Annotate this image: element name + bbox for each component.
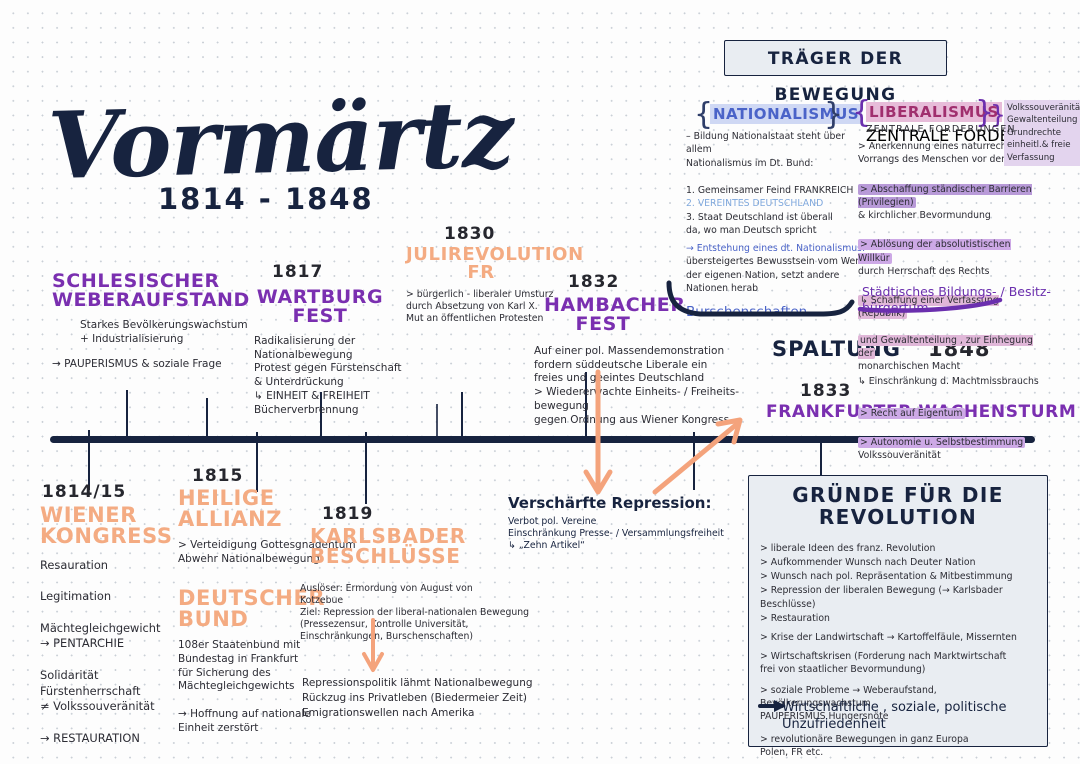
gruende-title: GRÜNDE FÜR DIE REVOLUTION	[748, 484, 1048, 529]
timeline-tick	[206, 398, 208, 442]
event-schlesischer-weberaufstand: SCHLESISCHER WEBERAUFSTAND Starkes Bevöl…	[52, 272, 252, 372]
gruende-item: > revolutionäre Bewegungen in ganz Europ…	[760, 733, 1045, 760]
timeline-tick	[256, 432, 258, 492]
liberalismus-line-text: > Ablösung der absolutistischen Willkür	[858, 239, 1011, 263]
liberalismus-line: monarchischen Macht	[858, 360, 1043, 373]
nationalismus-line: → Entstehung eines dt. Nationalismus:	[686, 242, 866, 255]
event-year: 1815	[192, 466, 243, 486]
nationalismus-line: Nationalismus im Dt. Bund:	[686, 157, 866, 170]
event-body: Starkes Bevölkerungswachstum + Industria…	[80, 319, 252, 347]
event-year: 1833	[800, 381, 851, 401]
liberalismus-line: > Autonomie u. Selbstbestimmung	[858, 423, 1043, 449]
event-heading: WARTBURG FEST	[254, 288, 386, 327]
event-year-1817: 1817	[272, 262, 323, 282]
nationalismus-line-text: 1. Gemeinsamer Feind FRANKREICH	[686, 185, 853, 196]
liberalismus-line: & kirchlicher Bevormundung	[858, 209, 1043, 222]
event-year-1832: 1832	[568, 272, 619, 292]
nationalismus-line: der eigenen Nation, setzt andere	[686, 269, 866, 282]
timeline-tick	[88, 430, 90, 490]
karlsbader-consequences: Repressionspolitik lähmt Nationalbewegun…	[302, 676, 572, 722]
liberalismus-line: > Recht auf Eigentum	[858, 393, 1043, 419]
repression-title: Verschärfte Repression:	[508, 494, 738, 512]
liberalismus-line-text: > Autonomie u. Selbstbestimmung	[858, 437, 1025, 448]
event-heading: SCHLESISCHER WEBERAUFSTAND	[52, 272, 252, 311]
liberalismus-line: > Ablösung der absolutistischen Willkür	[858, 225, 1043, 265]
event-year: 1832	[568, 272, 619, 292]
event-year-1833: 1833	[800, 381, 851, 401]
liberalismus-line: > Abschaffung ständischer Barrieren (Pri…	[858, 169, 1043, 209]
event-body: > bürgerlich - liberaler Umsturz durch A…	[406, 289, 566, 325]
liberalismus-line: ↳ Einschränkung d. Machtmissbrauchs	[858, 375, 1043, 388]
gruende-item: > Wunsch nach pol. Repräsentation & Mitb…	[760, 570, 1045, 584]
event-year: 1817	[272, 262, 323, 282]
event-year-1814-15: 1814/15	[42, 482, 126, 502]
gruende-item: > Wirtschaftskrisen (Forderung nach Mark…	[760, 650, 1045, 677]
verschaerfte-repression: Verschärfte Repression: Verbot pol. Vere…	[508, 494, 738, 552]
event-heading: HAMBACHER FEST	[544, 296, 662, 335]
timeline-tick	[693, 432, 695, 490]
nationalismus-line: Nationen herab	[686, 282, 866, 295]
event-body-secondary: → PAUPERISMUS & soziale Frage	[52, 358, 252, 372]
nationalismus-body: – Bildung Nationalstaat steht über allem…	[686, 130, 866, 320]
liberalismus-line: durch Herrschaft des Rechts	[858, 265, 1043, 278]
event-year: 1819	[322, 504, 373, 524]
event-body: Radikalisierung der Nationalbewegung Pro…	[254, 335, 454, 418]
timeline-tick	[126, 390, 128, 438]
timeline-tick	[461, 392, 463, 438]
gruende-item: > Restauration	[760, 612, 1045, 626]
event-year-1819: 1819	[322, 504, 373, 524]
gruende-item: > Aufkommender Wunsch nach Deuter Nation	[760, 556, 1045, 570]
event-year: 1814/15	[42, 482, 126, 502]
event-heading: JULIREVOLUTION FR	[406, 246, 556, 283]
nationalismus-line: 3. Staat Deutschland ist überall	[686, 211, 866, 224]
event-heading: KARLSBADER BESCHLÜSSE	[310, 526, 438, 567]
event-body: Auslöser: Ermordung von August von Kotze…	[300, 583, 560, 643]
gruende-item: > Repression der liberalen Bewegung (→ K…	[760, 584, 1045, 612]
liberalismus-line: Volkssouveränität	[858, 449, 1043, 462]
nationalismus-line: – Bildung Nationalstaat steht über allem	[686, 130, 866, 157]
event-body: Auf einer pol. Massendemonstration forde…	[534, 345, 764, 428]
traeger-box: TRÄGER DER BEWEGUNG	[724, 40, 947, 76]
liberalismus-line: und Gewaltenteilung , zur Einhegung der	[858, 320, 1043, 360]
gruende-item: > Krise der Landwirtschaft → Kartoffelfä…	[760, 631, 1045, 645]
gruende-item: > liberale Ideen des franz. Revolution	[760, 542, 1045, 556]
liberalismus-line-text: > Abschaffung ständischer Barrieren (Pri…	[858, 184, 1032, 208]
nationalismus-line: übersteigertes Bewusstsein vom Wert	[686, 255, 866, 268]
nationalismus-footer: Burschenschaften	[686, 304, 866, 320]
nationalismus-line: da, wo man Deutsch spricht	[686, 224, 866, 237]
nationalismus-line: 1. Gemeinsamer Feind FRANKREICH	[686, 170, 866, 197]
liberalismus-line-text: und Gewaltenteilung , zur Einhegung der	[858, 335, 1033, 359]
event-year-1815: 1815	[192, 466, 243, 486]
liberalismus-footer: Städtisches Bildungs- / Besitz- bürgertu…	[862, 284, 1062, 315]
liberalismus-line-text: > Recht auf Eigentum	[858, 408, 965, 419]
page-title-years: 1814 - 1848	[158, 182, 374, 216]
liberalismus-subtitle-text: ZENTRALE FORDERUNGEN	[866, 124, 1016, 135]
gruende-conclusion: Wirtschaftliche , soziale, politische Un…	[782, 700, 1032, 734]
nationalismus-bracket-right: }	[824, 100, 843, 130]
repression-body: Verbot pol. Vereine Einschränkung Presse…	[508, 516, 738, 552]
nationalismus-line: 2. VEREINTES DEUTSCHLAND	[686, 197, 866, 210]
event-year-1830: 1830	[444, 224, 495, 244]
event-julirevolution: JULIREVOLUTION FR > bürgerlich - liberal…	[406, 246, 566, 325]
event-year: 1830	[444, 224, 495, 244]
